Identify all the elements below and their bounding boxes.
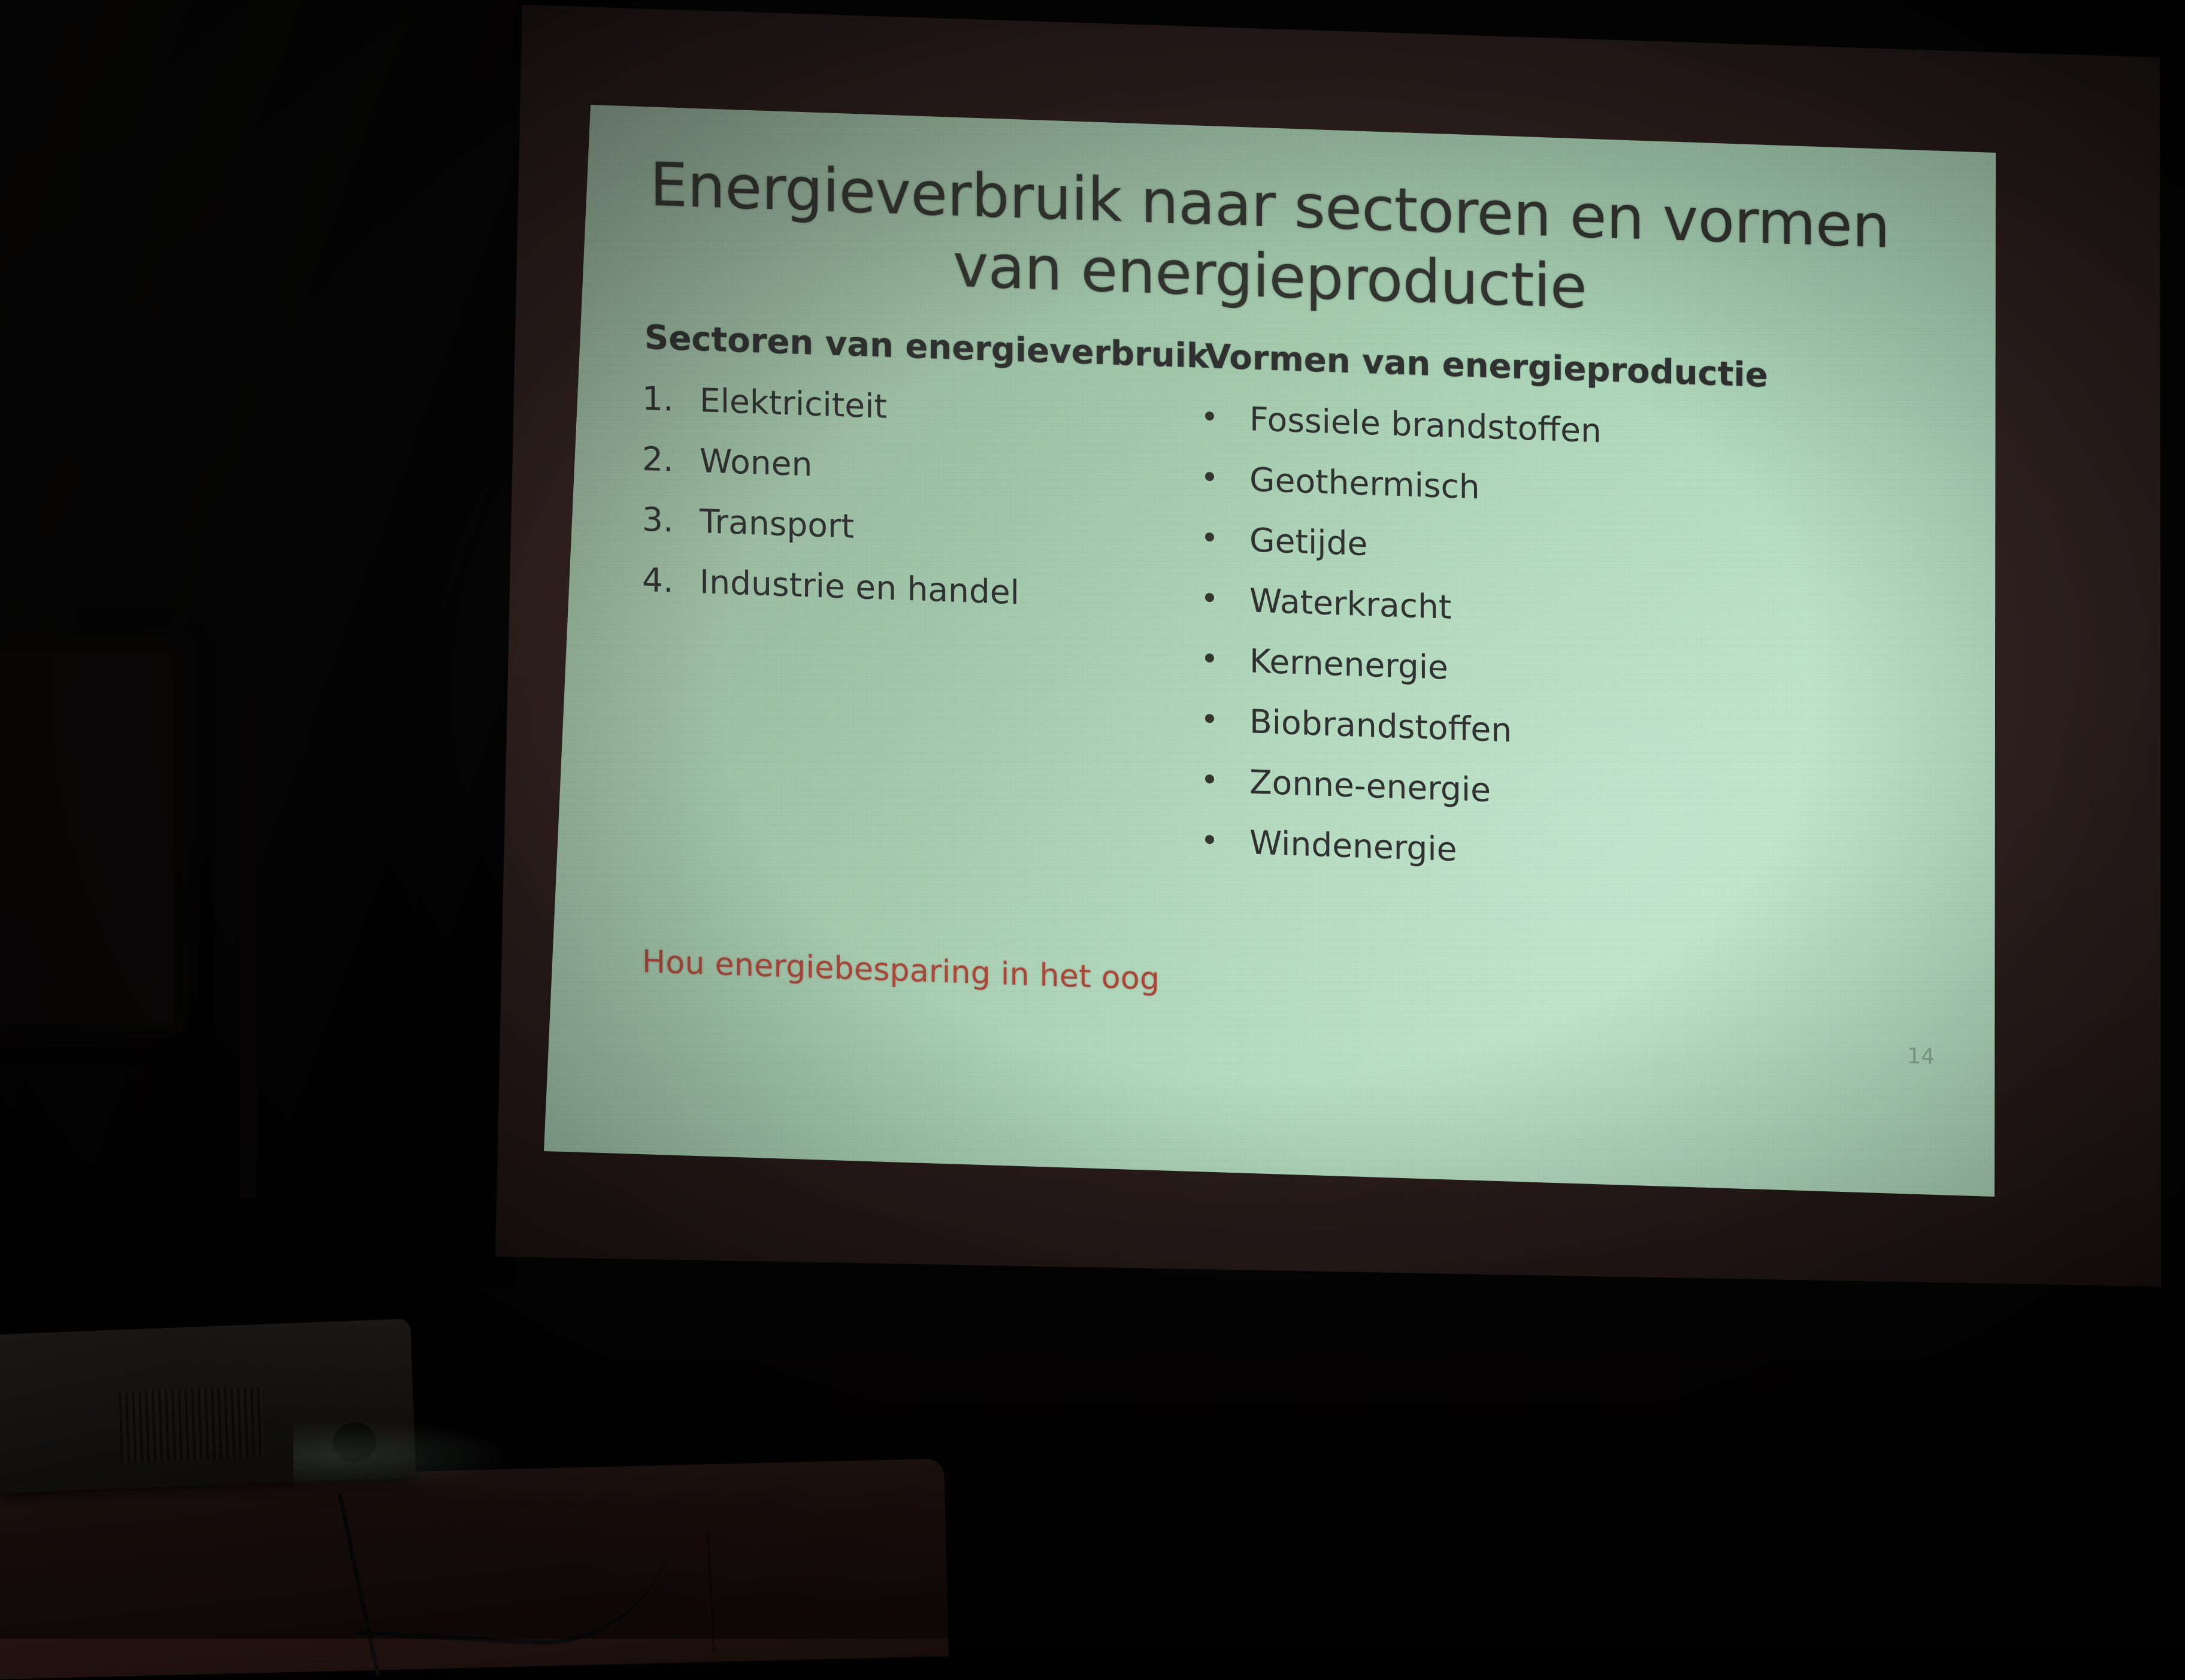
- list-item: Kernenergie: [1205, 643, 2001, 703]
- list-item-label: Biobrandstoffen: [1249, 705, 1512, 747]
- list-item: Zonne-energie: [1205, 764, 2001, 824]
- list-item-number: 2.: [642, 443, 700, 477]
- dark-room-background: Energieverbruik naar sectoren en vormen …: [0, 0, 2185, 1639]
- bullet-dot-icon: [1205, 401, 1249, 436]
- list-item-label: Elektriciteit: [700, 384, 887, 423]
- slide-content: Energieverbruik naar sectoren en vormen …: [539, 99, 2001, 1254]
- list-item: Geothermisch: [1205, 462, 2001, 522]
- list-item-label: Windenergie: [1249, 826, 1457, 866]
- list-item-label: Zonne-energie: [1249, 765, 1491, 807]
- projector-vent-grille: [119, 1387, 265, 1463]
- column-production-forms: Vormen van energieproductie Fossiele bra…: [1192, 337, 2001, 912]
- list-item: Waterkracht: [1205, 583, 2001, 643]
- slide-page-number: 14: [1907, 1044, 1935, 1070]
- list-item-number: 3.: [642, 503, 700, 538]
- production-forms-list: Fossiele brandstoffen Geothermisch Getij…: [1205, 401, 2001, 885]
- bullet-dot-icon: [1205, 643, 1249, 678]
- list-item-label: Transport: [700, 505, 854, 543]
- bullet-dot-icon: [1205, 704, 1249, 738]
- list-item: Getijde: [1205, 522, 2001, 582]
- list-item-label: Fossiele brandstoffen: [1249, 402, 1602, 447]
- bullet-dot-icon: [1205, 583, 1249, 617]
- column-production-forms-heading: Vormen van energieproductie: [1205, 337, 2001, 403]
- sectors-list: 1. Elektriciteit 2. Wonen 3. Transport 4…: [642, 382, 1192, 615]
- bullet-dot-icon: [1205, 462, 1249, 497]
- list-item-label: Waterkracht: [1249, 584, 1451, 623]
- list-item: Windenergie: [1205, 825, 2001, 885]
- bullet-dot-icon: [1205, 522, 1249, 557]
- list-item-label: Wonen: [700, 444, 812, 481]
- bullet-dot-icon: [1205, 825, 1249, 859]
- bullet-dot-icon: [1205, 764, 1249, 799]
- list-item-label: Industrie en handel: [700, 565, 1019, 609]
- list-item-label: Kernenergie: [1249, 644, 1448, 684]
- list-item-number: 1.: [642, 382, 700, 417]
- list-item-label: Getijde: [1249, 523, 1367, 561]
- list-item-number: 4.: [642, 564, 700, 598]
- list-item: 1. Elektriciteit: [642, 382, 1192, 434]
- list-item: 3. Transport: [642, 503, 1192, 555]
- column-sectors: Sectoren van energieverbruik 1. Elektric…: [539, 314, 1192, 885]
- wall-edge-shadow: [240, 539, 258, 1198]
- list-item: Biobrandstoffen: [1205, 704, 2001, 764]
- wall-picture-frame: [0, 653, 174, 1024]
- slide-footer-note: Hou energiebesparing in het oog: [642, 944, 1160, 997]
- list-item: 4. Industrie en handel: [642, 564, 1192, 615]
- list-item: 2. Wonen: [642, 443, 1192, 494]
- slide-title: Energieverbruik naar sectoren en vormen …: [539, 146, 2001, 337]
- list-item: Fossiele brandstoffen: [1205, 401, 2001, 461]
- list-item-label: Geothermisch: [1249, 463, 1480, 504]
- slide-columns: Sectoren van energieverbruik 1. Elektric…: [539, 314, 2001, 912]
- column-sectors-heading: Sectoren van energieverbruik: [642, 318, 1192, 376]
